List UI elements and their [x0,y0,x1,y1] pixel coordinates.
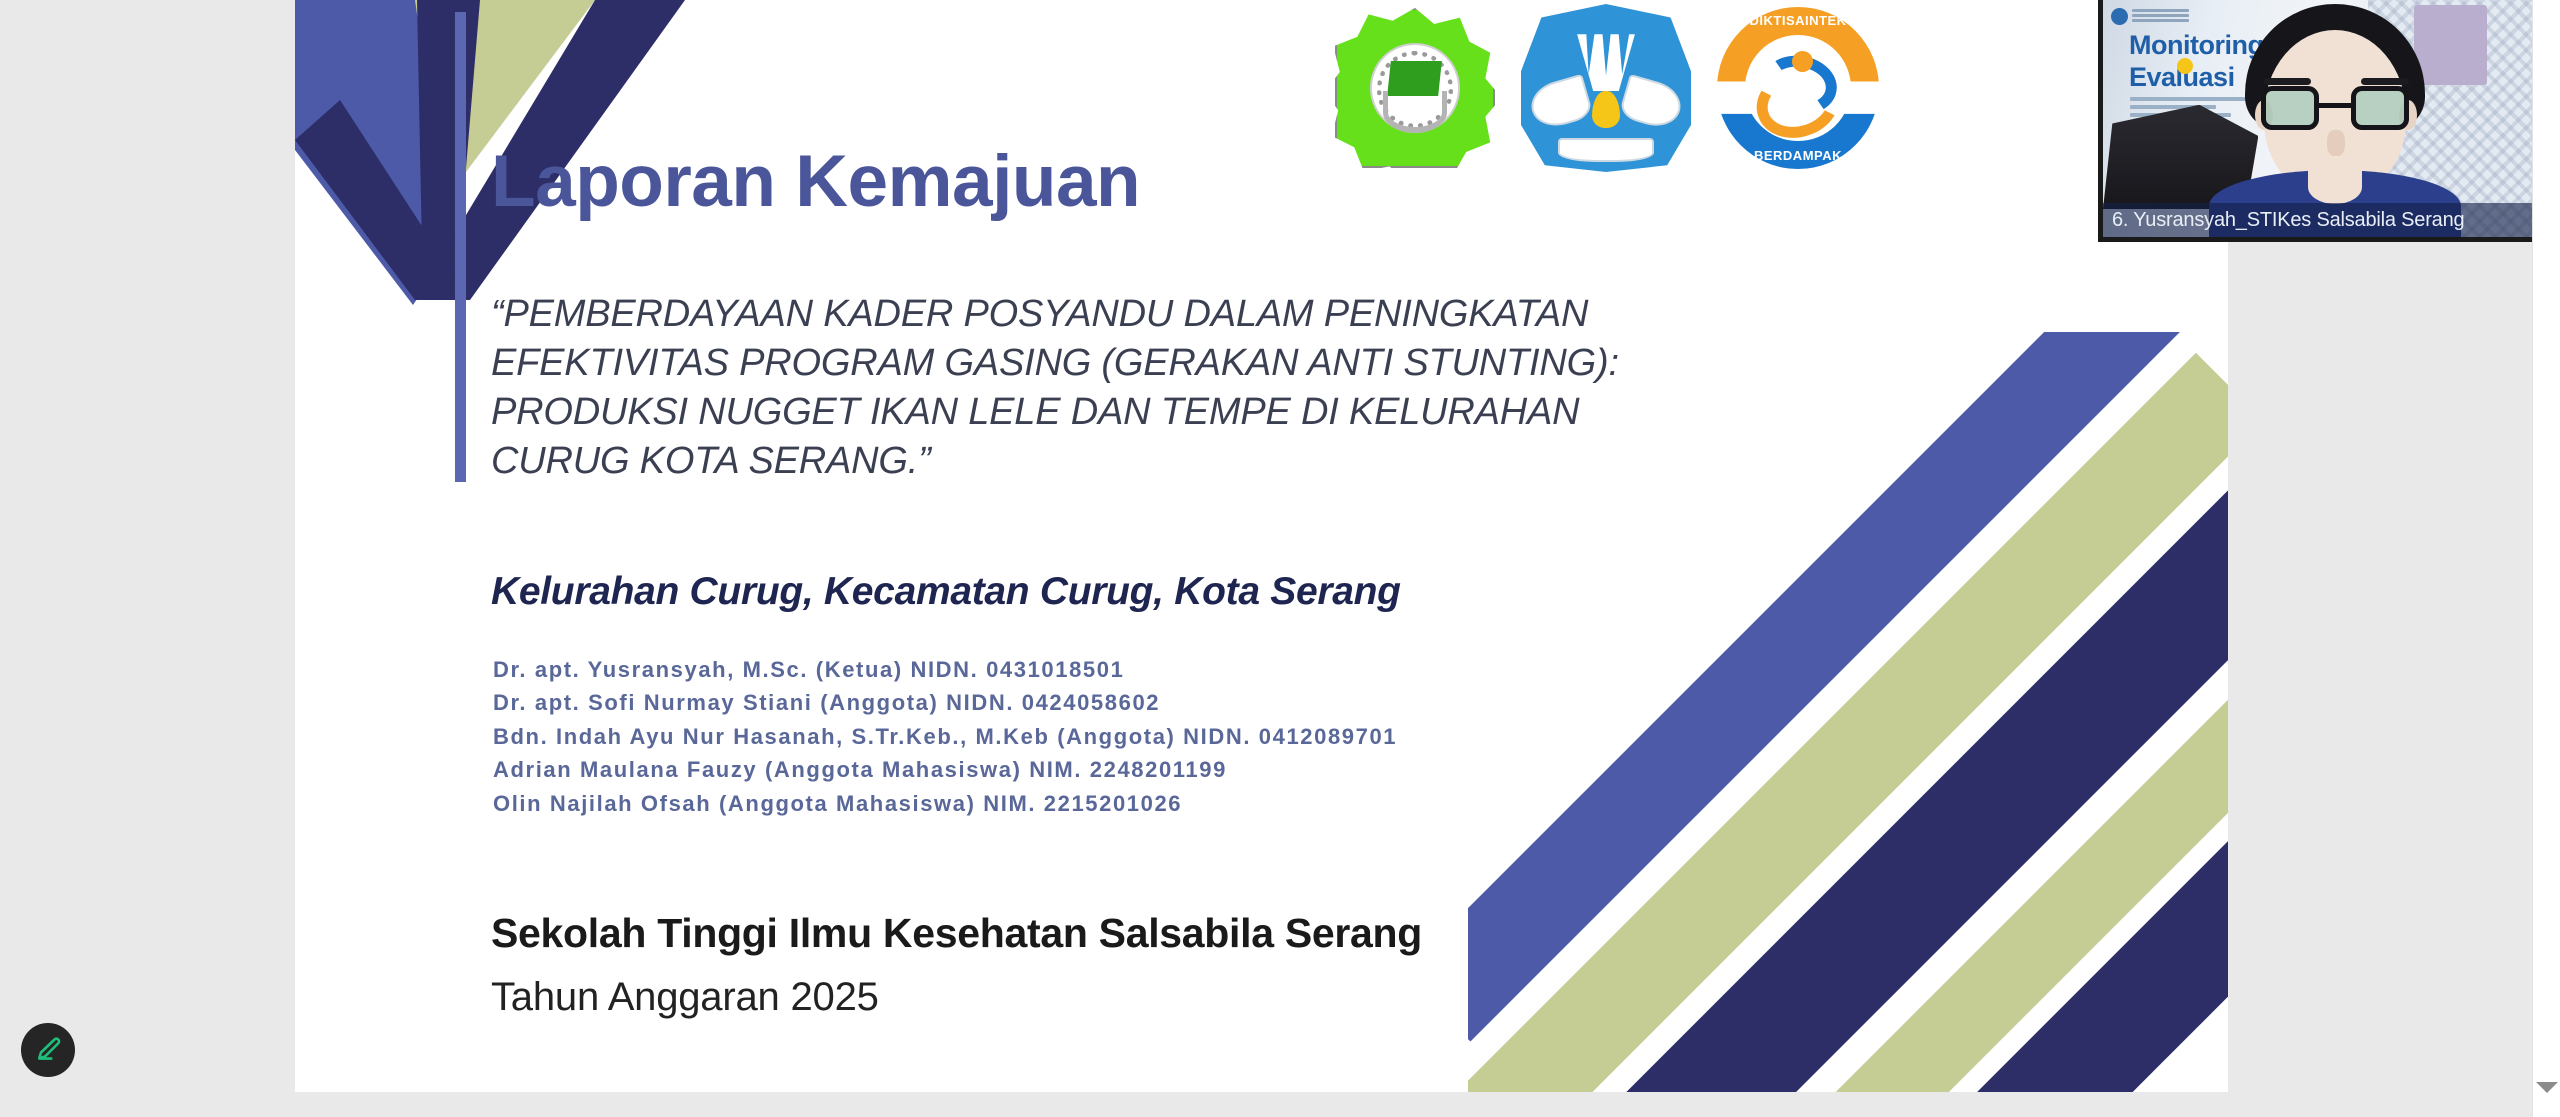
pen-icon [33,1035,63,1065]
author-row: Dr. apt. Sofi Nurmay Stiani (Anggota) NI… [493,686,1397,719]
logo-text-top: DIKTISAINTEK [1717,13,1879,28]
author-row: Olin Najilah Ofsah (Anggota Mahasiswa) N… [493,787,1397,820]
quote-line-2: EFEKTIVITAS PROGRAM GASING (GERAKAN ANTI… [491,339,1641,388]
slide-title: Laporan Kemajuan [491,140,1140,223]
presentation-slide: DIKTISAINTEK BERDAMPAK Laporan Kemajuan … [295,0,2228,1092]
author-row: Dr. apt. Yusransyah, M.Sc. (Ketua) NIDN.… [493,653,1397,686]
logo-text-bottom: BERDAMPAK [1717,148,1879,163]
participant-name-label: 6. Yusransyah_STIKes Salsabila Serang [2103,203,2560,237]
logo-row: DIKTISAINTEK BERDAMPAK [1335,4,1879,172]
chevron-down-icon[interactable] [2536,1082,2558,1093]
vertical-scrollbar[interactable] [2532,0,2560,1117]
diktisaintek-berdampak-logo-icon: DIKTISAINTEK BERDAMPAK [1717,7,1879,169]
screen-share-viewer: DIKTISAINTEK BERDAMPAK Laporan Kemajuan … [0,0,2560,1117]
tut-wuri-handayani-logo-icon [1521,4,1691,172]
location-line: Kelurahan Curug, Kecamatan Curug, Kota S… [491,570,1401,614]
eyeglasses-icon [2261,86,2409,130]
quote-line-1: “PEMBERDAYAAN KADER POSYANDU DALAM PENIN… [491,290,1641,339]
project-title-quote: “PEMBERDAYAAN KADER POSYANDU DALAM PENIN… [491,290,1641,486]
quote-line-3: PRODUKSI NUGGET IKAN LELE DAN TEMPE DI K… [491,388,1641,437]
annotate-button[interactable] [21,1023,75,1077]
author-row: Bdn. Indah Ayu Nur Hasanah, S.Tr.Keb., M… [493,720,1397,753]
author-list: Dr. apt. Yusransyah, M.Sc. (Ketua) NIDN.… [493,653,1397,820]
background-org-logo-icon [2111,5,2189,27]
participant-video-tile[interactable]: Monitoring Evaluasi 6. Yusransyah_ [2098,0,2560,242]
quote-line-4: CURUG KOTA SERANG.” [491,437,1641,486]
institution-year: Tahun Anggaran 2025 [491,975,879,1020]
institution-name: Sekolah Tinggi Ilmu Kesehatan Salsabila … [491,910,1422,957]
author-row: Adrian Maulana Fauzy (Anggota Mahasiswa)… [493,753,1397,786]
vertical-accent-bar [455,12,466,482]
stikes-salsabila-logo-icon [1335,8,1495,168]
